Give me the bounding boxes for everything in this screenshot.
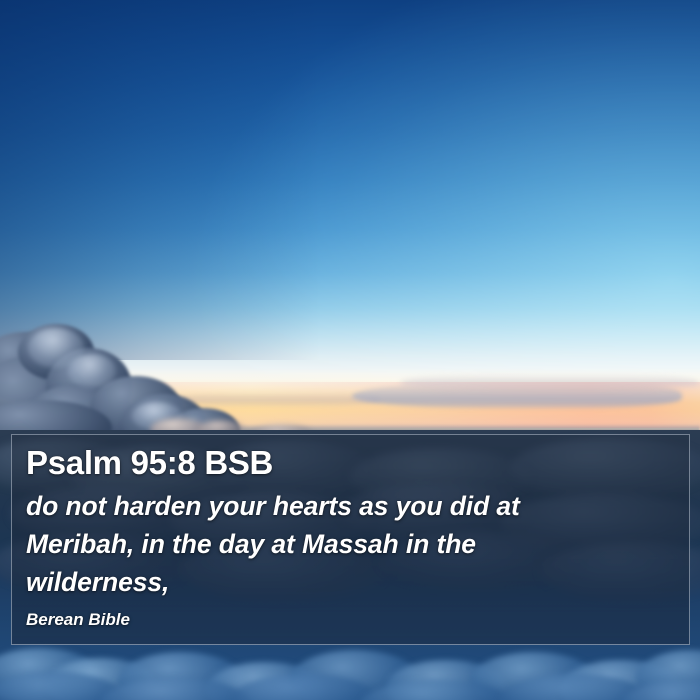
verse-overlay-panel: Psalm 95:8 BSB do not harden your hearts… [11,434,690,645]
verse-text-line: Meribah, in the day at Massah in the [26,525,666,563]
verse-panel-content: Psalm 95:8 BSB do not harden your hearts… [12,435,689,644]
verse-attribution: Berean Bible [26,609,675,631]
stratus-cloud-right [400,374,700,390]
verse-reference: Psalm 95:8 BSB [26,443,675,483]
verse-text: do not harden your hearts as you did at … [26,487,666,601]
verse-text-line: wilderness, [26,563,666,601]
verse-image-canvas: Psalm 95:8 BSB do not harden your hearts… [0,0,700,700]
sky-left-shading [0,0,320,360]
verse-text-line: do not harden your hearts as you did at [26,487,666,525]
